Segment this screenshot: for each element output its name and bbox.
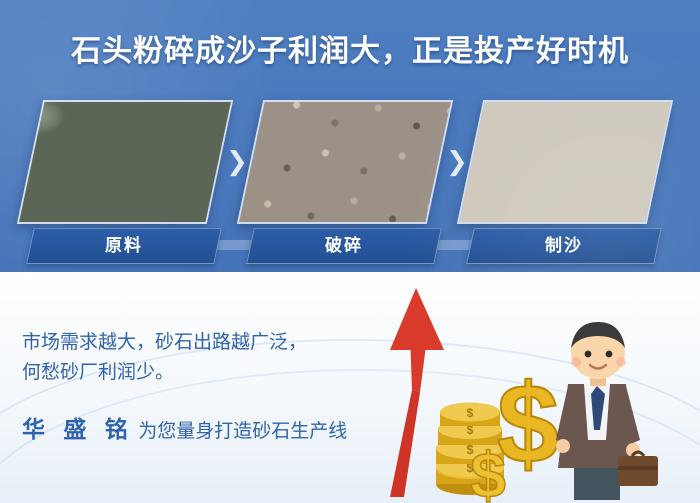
svg-text:$: $: [497, 361, 559, 486]
businessman-character: [556, 322, 658, 500]
top-blue-panel: 石头粉碎成沙子利润大，正是投产好时机 ❯ ❯ 原料 破碎 制沙: [0, 0, 700, 272]
bottom-section: 市场需求越大，砂石出路越广泛， 何愁砂厂利润少。 华 盛 铭 为您量身打造砂石生…: [0, 272, 700, 503]
copy-line-2: 何愁砂厂利润少。: [22, 358, 382, 388]
process-step-label-3-text: 制沙: [471, 229, 657, 263]
connector-bar-2: [431, 240, 481, 250]
promo-banner: 石头粉碎成沙子利润大，正是投产好时机 ❯ ❯ 原料 破碎 制沙: [0, 0, 700, 503]
process-step-image-2: [237, 100, 453, 224]
sand-photo: [457, 100, 673, 224]
process-step-label-3: 制沙: [466, 228, 662, 264]
process-step-label-2: 破碎: [246, 228, 442, 264]
process-step-label-2-text: 破碎: [251, 229, 437, 263]
process-step-image-1: [17, 100, 233, 224]
marketing-copy: 市场需求越大，砂石出路越广泛， 何愁砂厂利润少。 华 盛 铭 为您量身打造砂石生…: [22, 328, 382, 444]
gravel-photo: [237, 100, 453, 224]
chevron-right-icon-2: ❯: [444, 148, 470, 174]
red-up-arrow-icon: [390, 288, 444, 497]
copy-line-1: 市场需求越大，砂石出路越广泛，: [22, 328, 382, 358]
svg-text:$: $: [470, 439, 506, 503]
process-step-label-1: 原料: [26, 228, 222, 264]
dollar-sign-icon-small: $: [470, 439, 506, 503]
brand-tagline: 为您量身打造砂石生产线: [138, 421, 347, 442]
illustration-group: $ $ $ $ $: [360, 272, 700, 503]
brand-line: 华 盛 铭 为您量身打造砂石生产线: [22, 410, 382, 444]
process-tiles: ❯ ❯ 原料 破碎 制沙: [0, 100, 700, 270]
svg-text:$: $: [467, 406, 474, 420]
brand-name: 华 盛 铭: [22, 416, 134, 442]
pebbles-photo: [17, 100, 233, 224]
page-title: 石头粉碎成沙子利润大，正是投产好时机: [0, 26, 700, 70]
process-step-image-3: [457, 100, 673, 224]
dollar-sign-icon-large: $: [497, 361, 559, 486]
chevron-right-icon-1: ❯: [224, 148, 250, 174]
process-step-label-1-text: 原料: [31, 229, 217, 263]
